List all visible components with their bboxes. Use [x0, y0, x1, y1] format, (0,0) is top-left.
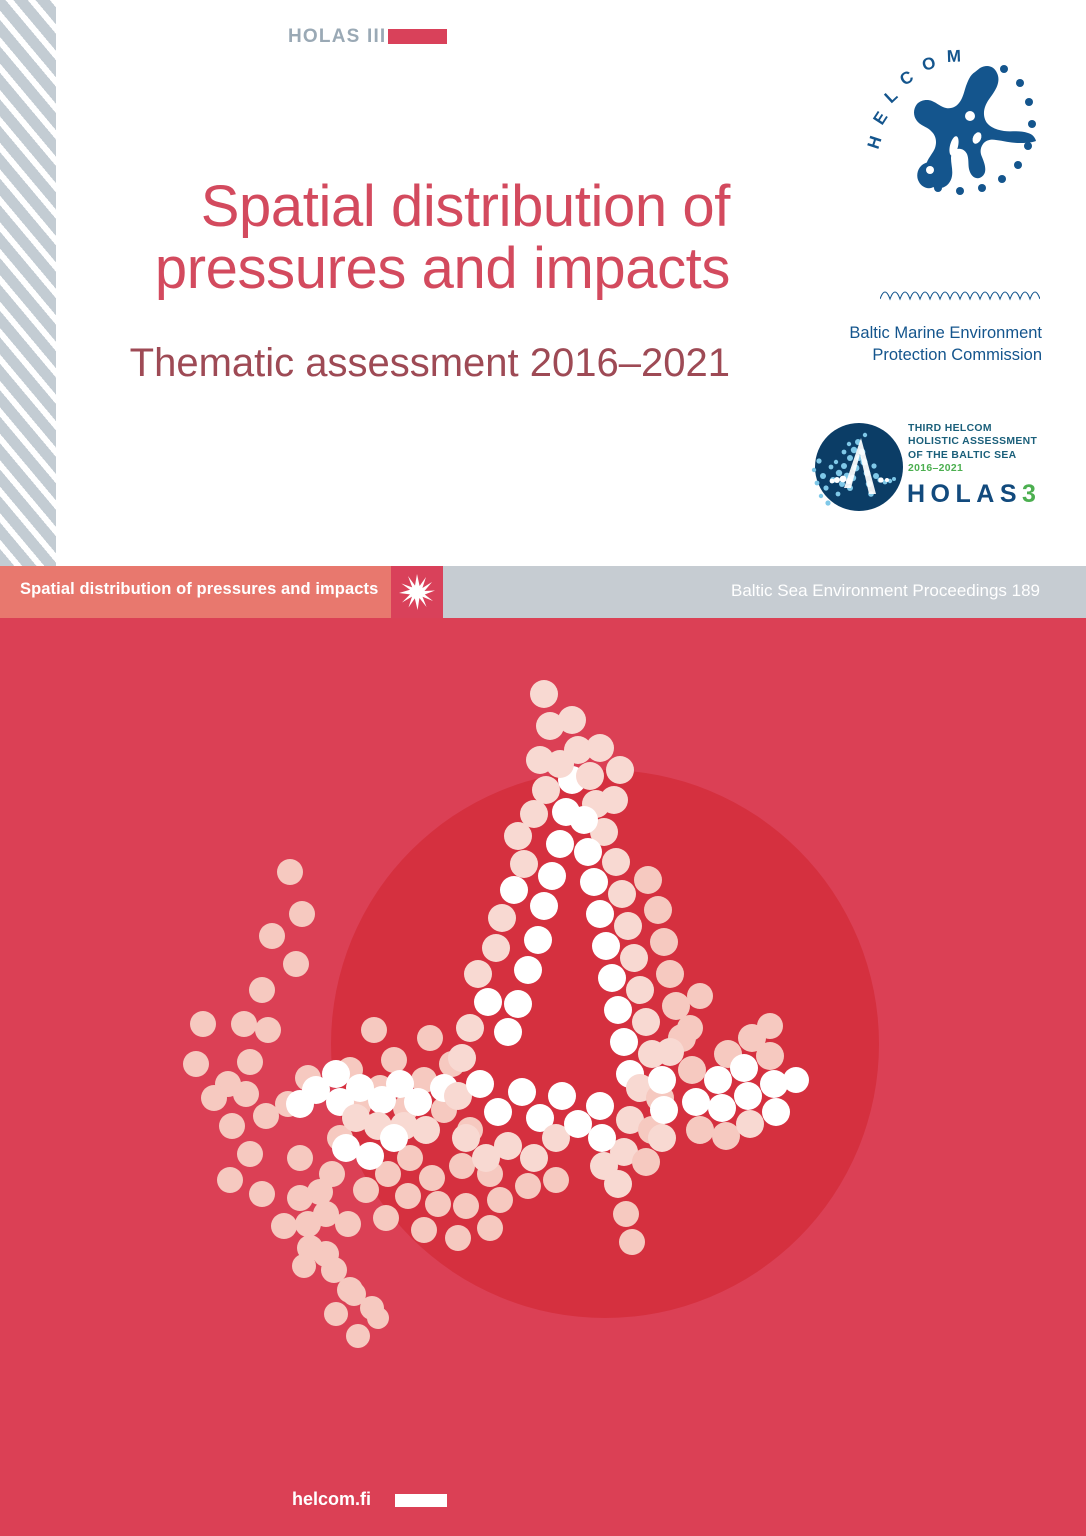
helcom-letter-h: H [864, 134, 886, 152]
badge-line-1: THIRD HELCOM [908, 422, 1048, 435]
holas3-badge: THIRD HELCOM HOLISTIC ASSESSMENT OF THE … [806, 418, 1044, 518]
holas-kicker-label: HOLAS III [288, 26, 386, 48]
helcom-logo: H E L C O M [862, 46, 1042, 226]
wave-rule-decoration [880, 285, 1040, 301]
holas3-badge-text: THIRD HELCOM HOLISTIC ASSESSMENT OF THE … [908, 422, 1048, 475]
footer-bar-decoration [395, 1494, 447, 1507]
helcom-letter-c: C [897, 67, 917, 90]
holas3-wordmark-text: HOLAS [907, 480, 1022, 508]
cover-header-area: HOLAS III Spatial distribution of pressu… [0, 0, 1086, 566]
holas3-wordmark: HOLAS3 [907, 480, 1036, 509]
helcom-letter-e: E [869, 108, 891, 128]
holas-kicker-bar [388, 29, 447, 44]
badge-years: 2016–2021 [908, 462, 1048, 475]
starburst-icon [399, 573, 435, 611]
banner-star-panel [391, 566, 443, 618]
website-label[interactable]: helcom.fi [292, 1489, 371, 1510]
banner-right-panel: Baltic Sea Environment Proceedings 189 [443, 566, 1086, 618]
banner-topic-label: Spatial distribution of pressures and im… [20, 580, 378, 599]
page-subtitle: Thematic assessment 2016–2021 [50, 340, 730, 386]
organisation-name: Baltic Marine Environment Protection Com… [780, 322, 1042, 367]
holas3-wordmark-number: 3 [1022, 480, 1036, 508]
banner-left-panel: Spatial distribution of pressures and im… [0, 566, 391, 618]
cover-banner: Spatial distribution of pressures and im… [0, 566, 1086, 618]
diagonal-stripe-decoration [0, 0, 56, 566]
banner-series-label: Baltic Sea Environment Proceedings 189 [731, 581, 1040, 601]
badge-line-3: OF THE BALTIC SEA [908, 449, 1048, 462]
helcom-letter-m: M [946, 47, 961, 66]
badge-line-2: HOLISTIC ASSESSMENT [908, 435, 1048, 448]
cover-artwork-area [0, 618, 1086, 1536]
document-cover: HOLAS III Spatial distribution of pressu… [0, 0, 1086, 1536]
helcom-letter-o: O [920, 53, 938, 75]
helcom-letter-l: L [881, 86, 902, 107]
artwork-dot-pattern [0, 618, 1086, 1536]
holas3-badge-circle-icon [806, 418, 904, 516]
page-title: Spatial distribution of pressures and im… [50, 176, 730, 300]
